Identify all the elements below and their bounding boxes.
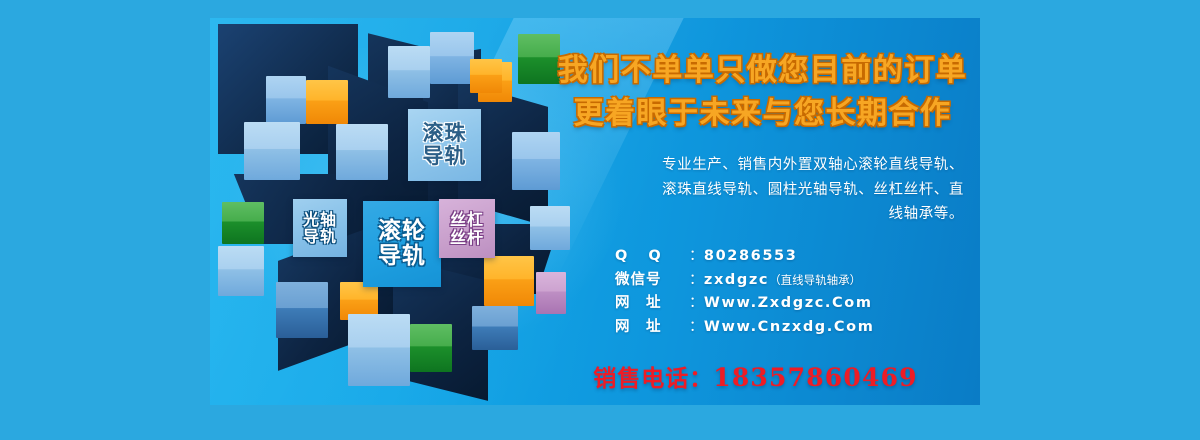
cube-face xyxy=(348,314,410,386)
cube-green xyxy=(410,324,452,372)
cube-face xyxy=(512,132,560,190)
cube-face xyxy=(244,122,300,180)
contact-block: Q Q ： 80286553 微信号 ： zxdgzc （直线导轨轴承） 网 址… xyxy=(555,245,970,339)
product-tile-shaft-rail[interactable]: 光轴 导轨 xyxy=(293,199,347,257)
contact-row-wechat: 微信号 ： zxdgzc （直线导轨轴承） xyxy=(615,269,970,292)
cube-blue xyxy=(266,76,306,124)
cube-face xyxy=(430,32,474,84)
cube-blue xyxy=(218,246,264,296)
product-tile-line1: 滚轮 xyxy=(378,219,426,244)
contact-row-qq: Q Q ： 80286553 xyxy=(615,245,970,268)
cube-face xyxy=(266,76,306,124)
cube-face xyxy=(388,46,430,98)
product-tile-screw-rod[interactable]: 丝杠 丝杆 xyxy=(439,199,495,258)
contact-separator: ： xyxy=(689,269,704,292)
cube-face xyxy=(470,59,502,93)
product-tile-roller-rail[interactable]: 滚轮 导轨 xyxy=(363,201,441,287)
description-line-1: 专业生产、销售内外置双轴心滚轮直线导轨、 xyxy=(555,153,964,178)
contact-value-website-1[interactable]: Www.Zxdgzc.Com xyxy=(704,292,873,315)
cube-blue xyxy=(244,122,300,180)
contact-label-qq: Q Q xyxy=(615,245,689,268)
contact-separator: ： xyxy=(689,245,704,268)
contact-value-wechat[interactable]: zxdgzc xyxy=(704,269,769,292)
description-block: 专业生产、销售内外置双轴心滚轮直线导轨、 滚珠直线导轨、圆柱光轴导轨、丝杠丝杆、… xyxy=(555,153,970,227)
cube-blue xyxy=(388,46,430,98)
contact-value-website-2[interactable]: Www.Cnzxdg.Com xyxy=(704,316,875,339)
cube-face xyxy=(484,256,534,306)
product-tile-line2: 导轨 xyxy=(423,145,467,168)
product-tile-line1: 丝杠 xyxy=(450,211,484,228)
banner-copy-column: 我们不单单只做您目前的订单 更着眼于未来与您长期合作 专业生产、销售内外置双轴心… xyxy=(555,32,970,392)
contact-note-wechat: （直线导轨轴承） xyxy=(769,271,861,290)
cube-green xyxy=(222,202,264,244)
product-tile-line2: 导轨 xyxy=(303,228,337,245)
sales-phone-label: 销售电话： xyxy=(593,366,713,392)
cube-face xyxy=(518,34,560,84)
cube-orange xyxy=(470,59,502,93)
cube-face xyxy=(276,282,328,338)
product-tile-line1: 光轴 xyxy=(303,211,337,228)
cube-blue xyxy=(336,124,388,180)
cube-orange xyxy=(484,256,534,306)
product-tile-line2: 丝杆 xyxy=(450,229,484,246)
exploding-cubes-graphic: 滚珠 导轨 光轴 导轨 滚轮 导轨 丝杠 丝杆 xyxy=(218,24,570,399)
headline-line-1: 我们不单单只做您目前的订单 xyxy=(555,50,970,93)
cube-face xyxy=(336,124,388,180)
description-line-3: 线轴承等。 xyxy=(555,202,964,227)
contact-separator: ： xyxy=(689,316,704,339)
cube-face xyxy=(218,246,264,296)
contact-value-qq[interactable]: 80286553 xyxy=(704,245,798,268)
contact-label-website-1: 网 址 xyxy=(615,292,689,315)
cube-green xyxy=(518,34,560,84)
product-tile-ball-rail[interactable]: 滚珠 导轨 xyxy=(408,109,481,181)
cube-blue xyxy=(276,282,328,338)
contact-row-website-1: 网 址 ： Www.Zxdgzc.Com xyxy=(615,292,970,315)
product-tile-line1: 滚珠 xyxy=(423,122,467,145)
cube-face xyxy=(472,306,518,350)
description-line-2: 滚珠直线导轨、圆柱光轴导轨、丝杠丝杆、直 xyxy=(555,178,964,203)
cube-blue xyxy=(348,314,410,386)
contact-row-website-2: 网 址 ： Www.Cnzxdg.Com xyxy=(615,316,970,339)
cube-blue xyxy=(472,306,518,350)
cube-blue xyxy=(430,32,474,84)
contact-label-wechat: 微信号 xyxy=(615,269,689,292)
product-tile-line2: 导轨 xyxy=(378,244,426,269)
sales-phone-block: 销售电话：18357860469 xyxy=(555,359,970,393)
cube-face xyxy=(306,80,348,124)
headline-block: 我们不单单只做您目前的订单 更着眼于未来与您长期合作 xyxy=(555,50,970,135)
cube-blue xyxy=(512,132,560,190)
cube-face xyxy=(222,202,264,244)
cube-orange xyxy=(306,80,348,124)
contact-separator: ： xyxy=(689,292,704,315)
cube-face xyxy=(410,324,452,372)
headline-line-2: 更着眼于未来与您长期合作 xyxy=(555,93,970,136)
promo-banner: 滚珠 导轨 光轴 导轨 滚轮 导轨 丝杠 丝杆 我们不单单只做您目前的订单 更着… xyxy=(210,18,980,405)
sales-phone-number[interactable]: 18357860469 xyxy=(713,363,918,392)
contact-label-website-2: 网 址 xyxy=(615,316,689,339)
